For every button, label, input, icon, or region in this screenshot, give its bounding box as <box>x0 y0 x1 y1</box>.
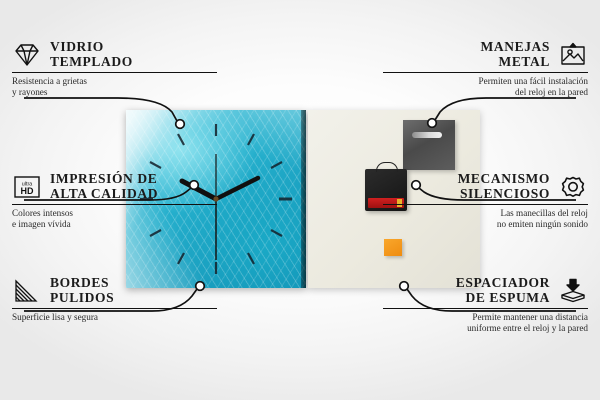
infographic-canvas: VIDRIO TEMPLADO Resistencia a grietas y … <box>0 0 600 400</box>
callout-title: BORDES PULIDOS <box>50 276 114 305</box>
callout-subtitle: Superficie lisa y segura <box>12 312 217 323</box>
glass-side-edge <box>301 110 306 288</box>
callout-subtitle: Colores intensos e imagen vívida <box>12 208 217 230</box>
callout-subtitle: Permite mantener una distancia uniforme … <box>383 312 588 334</box>
callout-subtitle: Las manecillas del reloj no emiten ningú… <box>383 208 588 230</box>
callout-manejas-metal: MANEJAS METAL Permiten una fácil instala… <box>383 40 588 98</box>
hanger-slot <box>412 132 442 138</box>
gear-icon <box>558 174 588 200</box>
polished-edge-icon <box>12 278 42 304</box>
callout-impresion-alta-calidad: ultra HD IMPRESIÓN DE ALTA CALIDAD Color… <box>12 172 217 230</box>
callout-rule <box>12 72 217 73</box>
callout-rule <box>383 204 588 205</box>
callout-title: VIDRIO TEMPLADO <box>50 40 133 69</box>
picture-hanger-icon <box>558 42 588 68</box>
callout-rule <box>383 72 588 73</box>
callout-bordes-pulidos: BORDES PULIDOS Superficie lisa y segura <box>12 276 217 323</box>
callout-subtitle: Resistencia a grietas y rayones <box>12 76 217 98</box>
diamond-icon <box>12 42 42 68</box>
callout-rule <box>12 204 217 205</box>
callout-rule <box>12 308 217 309</box>
callout-mecanismo-silencioso: MECANISMO SILENCIOSO Las manecillas del … <box>383 172 588 230</box>
mechanism-hook <box>376 162 398 172</box>
callout-title: IMPRESIÓN DE ALTA CALIDAD <box>50 172 158 201</box>
callout-title: MECANISMO SILENCIOSO <box>458 172 550 201</box>
metal-hanger-plate <box>403 120 455 170</box>
callout-rule <box>383 308 588 309</box>
callout-espaciador-espuma: ESPACIADOR DE ESPUMA Permite mantener un… <box>383 276 588 334</box>
foam-spacer <box>384 239 402 256</box>
callout-title: ESPACIADOR DE ESPUMA <box>456 276 550 305</box>
callout-subtitle: Permiten una fácil instalación del reloj… <box>383 76 588 98</box>
callout-title: MANEJAS METAL <box>481 40 550 69</box>
callout-vidrio-templado: VIDRIO TEMPLADO Resistencia a grietas y … <box>12 40 217 98</box>
svg-text:HD: HD <box>21 186 34 196</box>
foam-spacer-icon <box>558 278 588 304</box>
ultra-hd-icon: ultra HD <box>12 174 42 200</box>
